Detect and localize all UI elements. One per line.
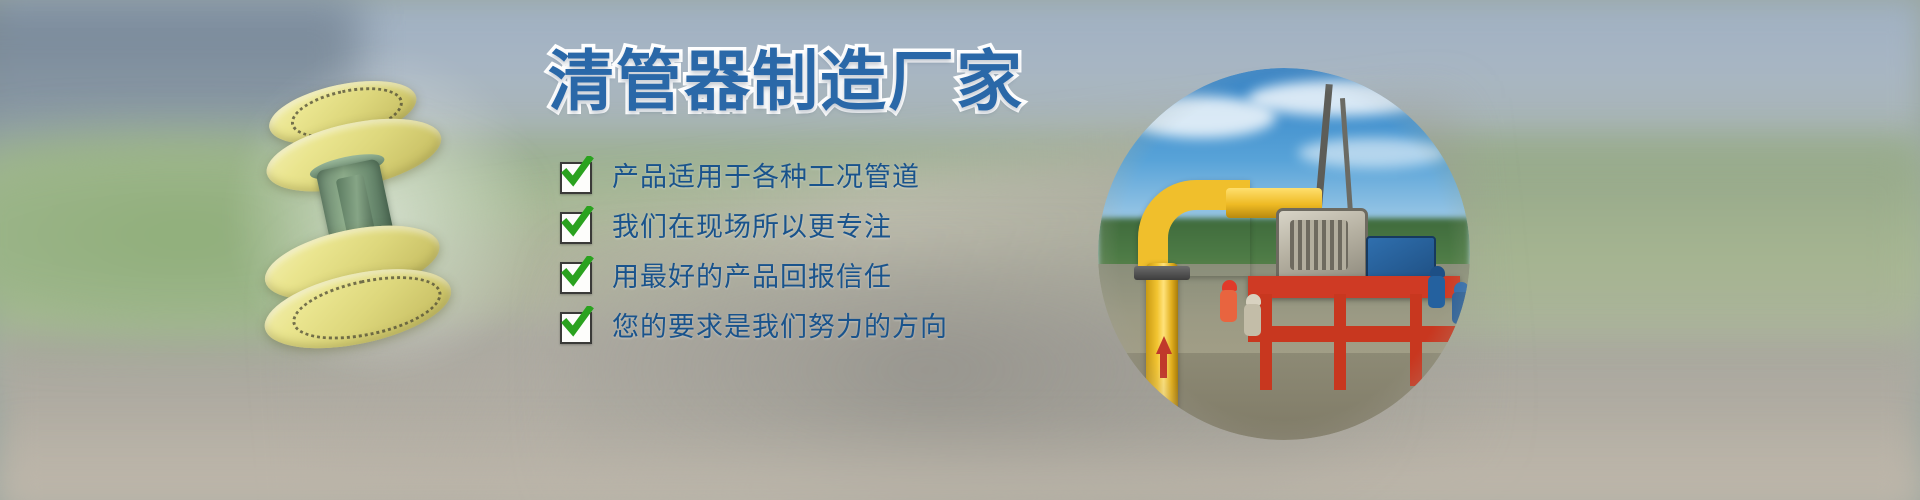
feature-list: 产品适用于各种工况管道 我们在现场所以更专注 用最好的产品回报信任 [560,156,980,356]
checkbox-check-icon [560,162,592,194]
photo-pipe-flange [1134,266,1190,280]
checkbox-check-icon [560,312,592,344]
list-item-label: 您的要求是我们努力的方向 [612,312,948,344]
photo-frame-leg [1410,294,1422,386]
list-item: 我们在现场所以更专注 [560,206,980,250]
checkbox-check-icon [560,212,592,244]
photo-worker-body [1244,304,1261,336]
list-item-label: 我们在现场所以更专注 [612,212,892,244]
photo-frame-leg [1260,294,1272,390]
photo-worker-body [1452,292,1469,324]
promo-banner: 清管器制造厂家 产品适用于各种工况管道 我们在现场所以更专注 [0,0,1920,500]
banner-headline: 清管器制造厂家 [548,42,1018,122]
photo-cloud [1248,80,1428,116]
list-item: 您的要求是我们努力的方向 [560,306,980,350]
pipeline-construction-site-photo [1098,68,1470,440]
photo-frame-leg [1334,294,1346,390]
list-item-label: 产品适用于各种工况管道 [612,162,920,194]
photo-worker-body [1220,290,1237,322]
photo-red-frame-bottom [1248,326,1460,342]
photo-worker-body [1428,276,1445,308]
photo-flow-arrow-stem [1160,352,1167,378]
checkbox-check-icon [560,262,592,294]
photo-cable-reel-core [1290,220,1348,270]
list-item-label: 用最好的产品回报信任 [612,262,892,294]
background-bottom-haze [0,420,1920,500]
list-item: 用最好的产品回报信任 [560,256,980,300]
list-item: 产品适用于各种工况管道 [560,156,980,200]
